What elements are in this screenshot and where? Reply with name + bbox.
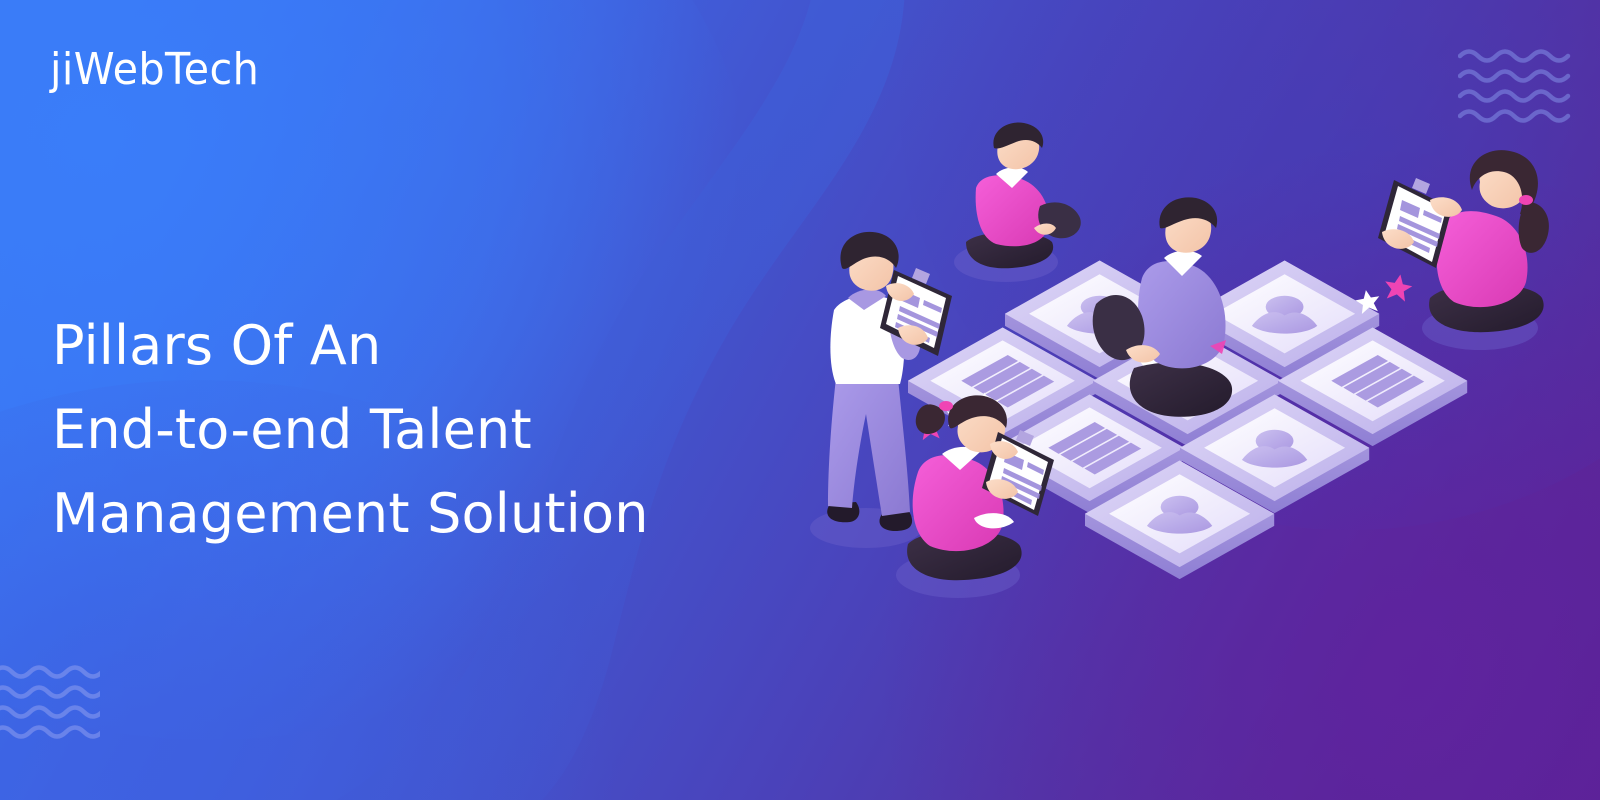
person-top-pink-laptop <box>954 123 1081 282</box>
headline-line-3: Management Solution <box>52 472 792 556</box>
wave-lines-icon-bottom-left <box>0 662 100 742</box>
hero-banner: jiWebTech Pillars Of An End-to-end Talen… <box>0 0 1600 800</box>
pants <box>828 378 910 516</box>
ponytail <box>1519 202 1549 253</box>
headline-line-2: End-to-end Talent <box>52 388 792 472</box>
star-icon <box>1382 272 1414 302</box>
site-logo[interactable]: jiWebTech <box>50 48 259 92</box>
hair-tie <box>1519 195 1533 205</box>
hair-tie <box>939 401 953 411</box>
person-right-pink-clipboard <box>1378 150 1549 350</box>
isometric-talent-management-illustration <box>790 110 1600 670</box>
shirt <box>1437 211 1528 307</box>
star-group-right <box>1354 272 1414 315</box>
page-title: Pillars Of An End-to-end Talent Manageme… <box>52 304 792 556</box>
headline-line-1: Pillars Of An <box>52 304 792 388</box>
illustration-svg <box>790 110 1600 670</box>
